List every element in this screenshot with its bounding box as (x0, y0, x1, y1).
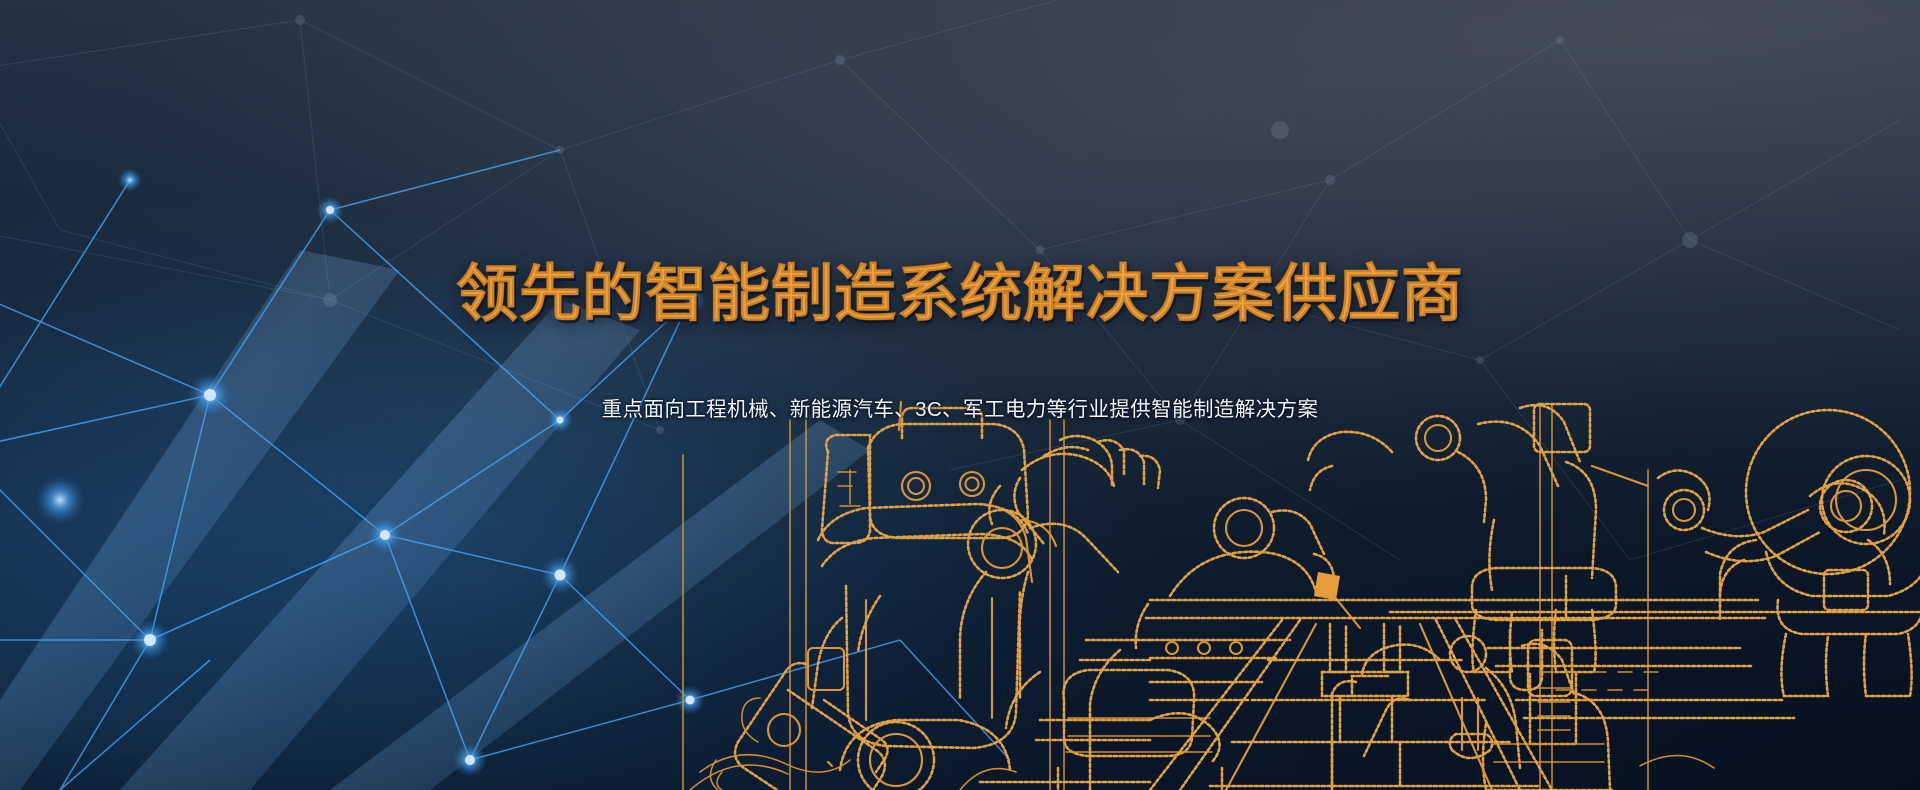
robot-line-art-illustration: .ln{fill:none;stroke:#e09a38;stroke-widt… (0, 0, 1920, 790)
robotic-arm-right-2 (1592, 466, 1890, 584)
conveyor-track-perspective (980, 600, 1920, 790)
spherical-head-robot (1720, 410, 1920, 696)
humanoid-robot-left (710, 402, 1056, 790)
articulated-welding-robot (960, 436, 1360, 790)
hero-banner: .ln{fill:none;stroke:#e09a38;stroke-widt… (0, 0, 1920, 790)
